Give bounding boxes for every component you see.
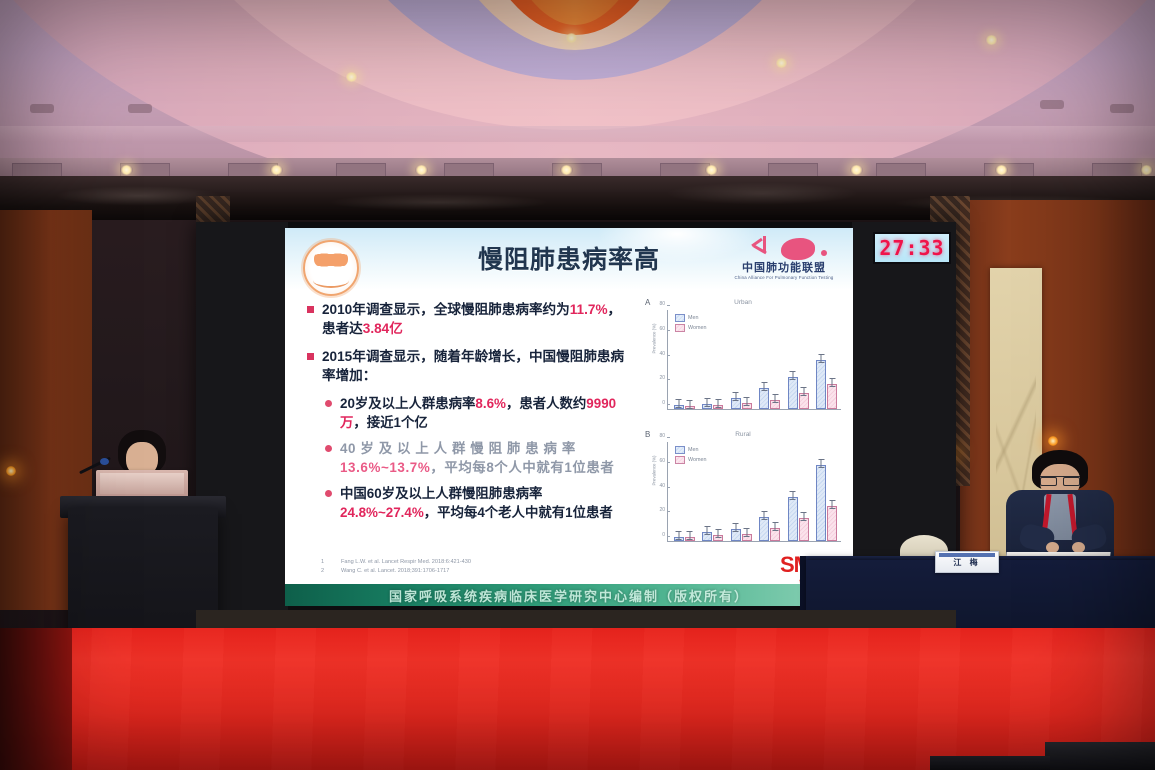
bar-women — [770, 528, 780, 541]
bar-men — [702, 404, 712, 409]
bar-men — [731, 529, 741, 541]
bullet-square-icon — [307, 353, 314, 360]
bar-men — [759, 388, 769, 409]
countdown-timer-display: 27:33 — [873, 232, 951, 264]
bar-women — [713, 405, 723, 409]
slide-footer-band: 国家呼吸系统疾病临床医学研究中心编制（版权所有） — [285, 584, 853, 606]
legend-label: Men — [688, 314, 699, 322]
bullet-text: 2015年调查显示，随着年龄增长，中国慢阻肺患病率增加： — [322, 347, 625, 385]
bar-group — [784, 310, 813, 409]
timer-value: 27:33 — [879, 236, 944, 260]
error-bar — [775, 394, 776, 403]
error-bar — [718, 529, 719, 538]
downlight-icon — [775, 58, 788, 68]
conference-hall-photo: 慢阻肺患病率高 中国肺功能联盟 China Alliance For Pulmo… — [0, 0, 1155, 770]
bar-women — [827, 506, 837, 541]
bar-men — [759, 517, 769, 541]
panel-title: Rural — [643, 431, 843, 438]
legend-item: Men — [675, 314, 706, 322]
bar-women — [742, 534, 752, 541]
error-bar — [803, 512, 804, 521]
slide-bullet-list: 2010年调查显示，全球慢阻肺患病率约为11.7%，患者达3.84亿2015年调… — [307, 300, 625, 529]
bullet-item: 2010年调查显示，全球慢阻肺患病率约为11.7%，患者达3.84亿 — [307, 300, 625, 338]
seated-person — [1006, 450, 1114, 562]
ceiling-vent — [1110, 104, 1134, 113]
y-axis-label: Prevalence (%) — [652, 446, 657, 496]
stage-floor — [0, 628, 1155, 770]
bullet-text: 2010年调查显示，全球慢阻肺患病率约为11.7%，患者达3.84亿 — [322, 300, 625, 338]
bar-men — [788, 497, 798, 541]
y-tick-label: 60 — [659, 458, 665, 464]
legend-item: Women — [675, 324, 706, 332]
downlight-icon — [415, 165, 428, 175]
error-bar — [764, 382, 765, 391]
spot-lamp-icon — [6, 466, 16, 476]
bullet-dot-icon — [325, 400, 332, 407]
y-tick-label: 40 — [659, 351, 665, 357]
spot-lamp-icon — [1048, 436, 1058, 446]
downlight-icon — [985, 35, 998, 45]
error-bar — [678, 399, 679, 408]
bar-group — [756, 310, 785, 409]
foreground-equipment — [1045, 742, 1155, 770]
bar-men — [702, 532, 712, 541]
legend-label: Women — [688, 456, 706, 464]
error-bar — [764, 511, 765, 520]
slide-chart-figure: AUrbanPrevalence (%)020406080MenWomenBRu… — [643, 298, 843, 560]
bar-group — [727, 442, 756, 541]
bar-group — [813, 442, 842, 541]
downlight-icon — [345, 72, 358, 82]
stage-floor-shadow — [0, 628, 72, 770]
bar-group — [756, 442, 785, 541]
bar-men — [731, 398, 741, 409]
y-tick-label: 60 — [659, 326, 665, 332]
legend-swatch — [675, 324, 685, 332]
presentation-slide: 慢阻肺患病率高 中国肺功能联盟 China Alliance For Pulmo… — [285, 228, 853, 606]
error-bar — [775, 522, 776, 531]
bar-group — [784, 442, 813, 541]
bullet-item: 2015年调查显示，随着年龄增长，中国慢阻肺患病率增加： — [307, 347, 625, 385]
legend-swatch — [675, 456, 685, 464]
bar-women — [685, 406, 695, 409]
chart-panel-b: BRuralPrevalence (%)020406080MenWomen — [643, 430, 843, 554]
chart-legend: MenWomen — [675, 446, 706, 466]
error-bar — [746, 528, 747, 537]
y-tick-label: 20 — [659, 507, 665, 513]
chart-panel-a: AUrbanPrevalence (%)020406080MenWomen — [643, 298, 843, 422]
alliance-name-en: China Alliance For Pulmonary Function Te… — [732, 274, 837, 281]
nameplate-text: 江 梅 — [953, 557, 980, 568]
error-bar — [792, 491, 793, 500]
bar-women — [713, 535, 723, 541]
error-bar — [821, 354, 822, 363]
reference-text: Wang C. et al. Lancet. 2018;391:1706-171… — [341, 567, 449, 576]
error-bar — [735, 523, 736, 532]
slide-footer-text: 国家呼吸系统疾病临床医学研究中心编制（版权所有） — [389, 586, 749, 605]
y-tick-label: 0 — [662, 532, 665, 538]
error-bar — [832, 500, 833, 509]
error-bar — [832, 378, 833, 387]
bar-women — [742, 403, 752, 409]
reference-row: 1Fang L.W. et al. Lancet Respir Med. 201… — [321, 558, 471, 567]
ceiling-vent — [128, 104, 152, 113]
downlight-icon — [120, 165, 133, 175]
y-axis-label: Prevalence (%) — [652, 314, 657, 364]
ceiling — [0, 0, 1155, 182]
legend-item: Women — [675, 456, 706, 464]
bar-men — [674, 537, 684, 541]
error-bar — [746, 397, 747, 406]
error-bar — [792, 371, 793, 380]
legend-label: Men — [688, 446, 699, 454]
error-bar — [689, 531, 690, 540]
downlight-icon — [705, 165, 718, 175]
error-bar — [689, 400, 690, 409]
downlight-icon — [560, 165, 573, 175]
panel-title: Urban — [643, 299, 843, 306]
bar-men — [674, 405, 684, 409]
error-bar — [803, 387, 804, 396]
bullet-text: 中国60岁及以上人群慢阻肺患病率24.8%~27.4%，平均每4个老人中就有1位… — [340, 484, 625, 522]
bar-women — [799, 518, 809, 541]
legend-swatch — [675, 446, 685, 454]
bullet-square-icon — [307, 306, 314, 313]
downlight-icon — [850, 165, 863, 175]
bar-women — [799, 393, 809, 409]
error-bar — [718, 399, 719, 408]
ceiling-band — [0, 126, 1155, 142]
bar-group — [813, 310, 842, 409]
chart-legend: MenWomen — [675, 314, 706, 334]
reference-text: Fang L.W. et al. Lancet Respir Med. 2018… — [341, 558, 471, 567]
bullet-dot-icon — [325, 490, 332, 497]
downlight-icon — [270, 165, 283, 175]
ceiling-vent — [30, 104, 54, 113]
reference-number: 2 — [321, 567, 327, 576]
bar-men — [816, 465, 826, 541]
bar-women — [827, 384, 837, 410]
bar-men — [816, 360, 826, 409]
pulmonary-alliance-logo: 中国肺功能联盟 China Alliance For Pulmonary Fun… — [729, 236, 839, 288]
foreground-equipment — [930, 756, 1050, 770]
bar-women — [685, 537, 695, 541]
downlight-icon — [995, 165, 1008, 175]
bar-women — [770, 400, 780, 409]
downlight-icon — [565, 33, 578, 43]
downlight-icon — [1140, 165, 1153, 175]
legend-item: Men — [675, 446, 706, 454]
error-bar — [735, 392, 736, 401]
bar-men — [788, 377, 798, 409]
bullet-dot-icon — [325, 445, 332, 452]
legend-swatch — [675, 314, 685, 322]
bullet-item: 中国60岁及以上人群慢阻肺患病率24.8%~27.4%，平均每4个老人中就有1位… — [325, 484, 625, 522]
bullet-text: 20岁及以上人群患病率8.6%，患者人数约9990万，接近1个亿 — [340, 394, 625, 432]
y-tick-label: 80 — [659, 301, 665, 307]
legend-label: Women — [688, 324, 706, 332]
bullet-item: 40 岁 及 以 上 人 群 慢 阻 肺 患 病 率 13.6%~13.7%，平… — [325, 439, 625, 477]
reference-row: 2Wang C. et al. Lancet. 2018;391:1706-17… — [321, 567, 471, 576]
bullet-item: 20岁及以上人群患病率8.6%，患者人数约9990万，接近1个亿 — [325, 394, 625, 432]
error-bar — [707, 398, 708, 407]
error-bar — [821, 459, 822, 468]
lung-mark-icon — [729, 236, 839, 262]
error-bar — [707, 526, 708, 535]
y-tick-label: 40 — [659, 483, 665, 489]
y-tick-label: 80 — [659, 433, 665, 439]
bullet-text: 40 岁 及 以 上 人 群 慢 阻 肺 患 病 率 13.6%~13.7%，平… — [340, 439, 625, 477]
ceiling-vent — [1040, 100, 1064, 109]
y-tick-label: 0 — [662, 400, 665, 406]
slide-references: 1Fang L.W. et al. Lancet Respir Med. 201… — [321, 558, 471, 576]
error-bar — [678, 531, 679, 540]
alliance-name-cn: 中国肺功能联盟 — [729, 262, 839, 274]
bar-group — [727, 310, 756, 409]
table-nameplate: 江 梅 — [935, 551, 999, 573]
reference-number: 1 — [321, 558, 327, 567]
y-tick-label: 20 — [659, 375, 665, 381]
